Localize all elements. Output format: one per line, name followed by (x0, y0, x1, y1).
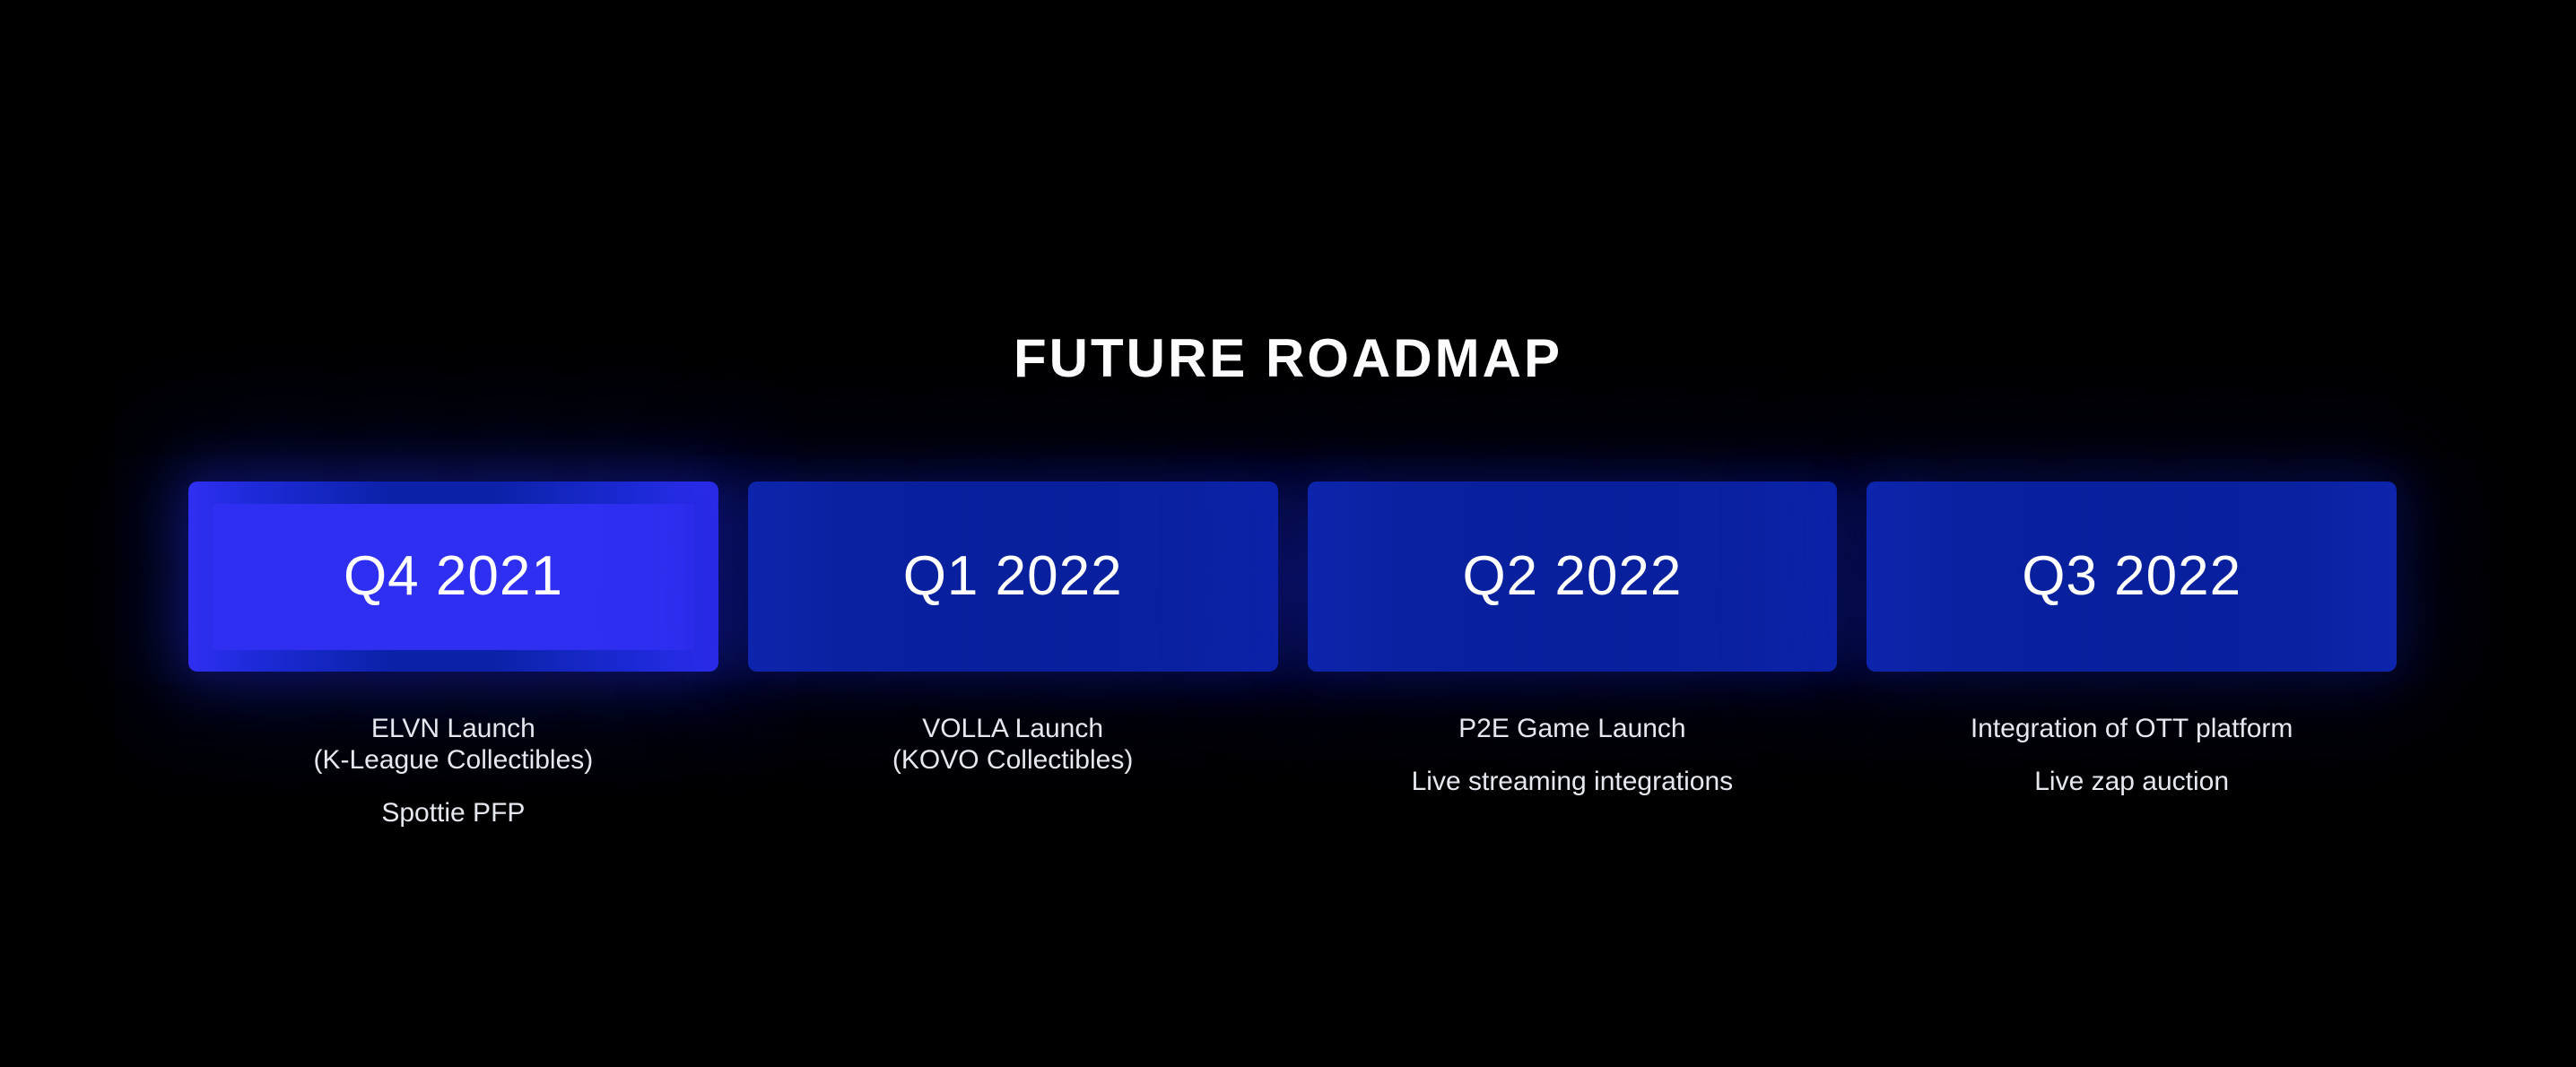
caption-line: Integration of OTT platform (1867, 713, 2397, 744)
quarter-card-q3-2022[interactable]: Q3 2022 (1867, 481, 2397, 672)
quarter-card-label: Q4 2021 (344, 549, 563, 604)
caption-line: Spottie PFP (188, 797, 718, 828)
caption-block-q1-2022: VOLLA Launch (KOVO Collectibles) (748, 713, 1278, 776)
caption-line: (KOVO Collectibles) (748, 744, 1278, 776)
caption-block-q4-2021: ELVN Launch (K-League Collectibles) Spot… (188, 713, 718, 828)
quarter-card-q4-2021[interactable]: Q4 2021 (188, 481, 718, 672)
quarter-card-label: Q1 2022 (903, 549, 1123, 604)
quarter-card-label: Q2 2022 (1462, 549, 1682, 604)
quarter-card-label: Q3 2022 (2022, 549, 2241, 604)
caption-line: (K-League Collectibles) (188, 744, 718, 776)
quarter-captions-row: ELVN Launch (K-League Collectibles) Spot… (188, 713, 2397, 828)
caption-line: Live streaming integrations (1308, 766, 1838, 797)
quarter-cards-row: Q4 2021 Q1 2022 Q2 2022 Q3 2022 (188, 481, 2397, 672)
page-title: FUTURE ROADMAP (0, 332, 2576, 386)
quarter-card-q2-2022[interactable]: Q2 2022 (1308, 481, 1838, 672)
quarter-card-q1-2022[interactable]: Q1 2022 (748, 481, 1278, 672)
caption-line: Live zap auction (1867, 766, 2397, 797)
caption-block-q3-2022: Integration of OTT platform Live zap auc… (1867, 713, 2397, 797)
caption-line: P2E Game Launch (1308, 713, 1838, 744)
caption-block-q2-2022: P2E Game Launch Live streaming integrati… (1308, 713, 1838, 797)
future-roadmap-section: FUTURE ROADMAP Q4 2021 Q1 2022 Q2 2022 Q… (0, 0, 2576, 1067)
caption-line: VOLLA Launch (748, 713, 1278, 744)
caption-line: ELVN Launch (188, 713, 718, 744)
